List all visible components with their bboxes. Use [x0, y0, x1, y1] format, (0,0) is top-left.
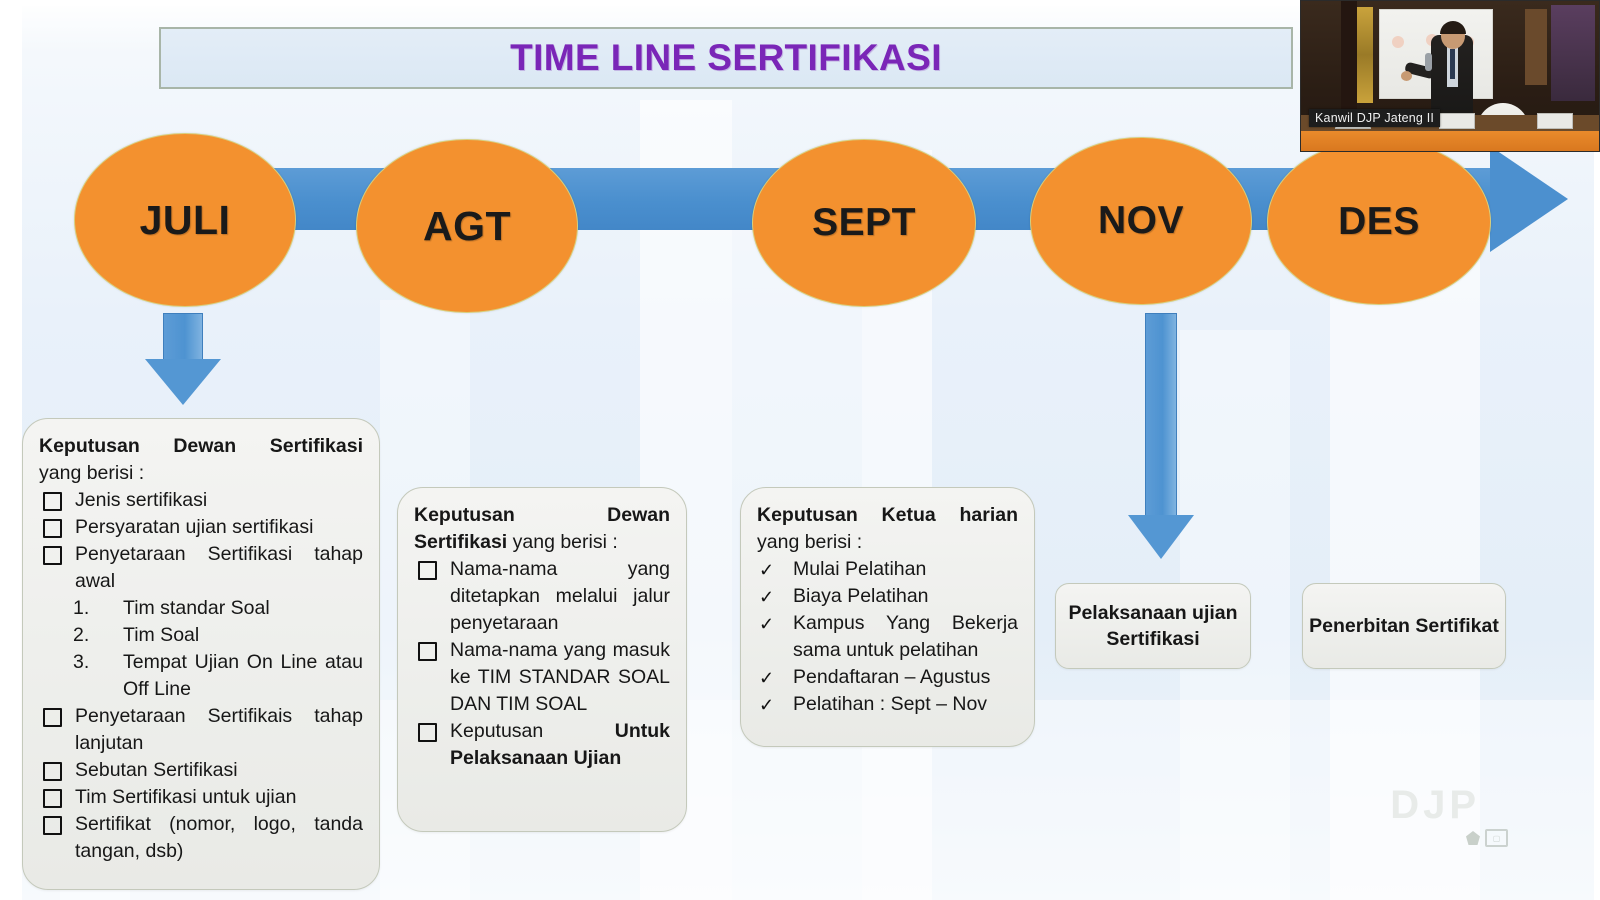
check-icon: ✓	[759, 665, 774, 692]
checkbox-icon	[43, 762, 62, 781]
list-item: ✓Pelatihan : Sept – Nov	[757, 691, 1018, 718]
timeline-node-label: SEPT	[812, 201, 916, 245]
box-juli-list-top: Jenis sertifikasi Persyaratan ujian sert…	[39, 487, 363, 595]
timeline-node-label: AGT	[423, 203, 511, 250]
list-item-label: Tim standar Soal	[123, 597, 270, 619]
list-item-label: Sertifikat (nomor, logo, tanda tangan, d…	[75, 813, 363, 862]
checkbox-icon	[418, 723, 437, 742]
list-item: ✓Biaya Pelatihan	[757, 583, 1018, 610]
timeline-node-label: NOV	[1098, 199, 1184, 243]
list-item: Nama-nama yang masuk ke TIM STANDAR SOAL…	[414, 637, 670, 718]
list-item-number: 1.	[73, 595, 89, 622]
list-item-label: Kampus Yang Bekerja sama untuk pelatihan	[793, 612, 1018, 661]
page-title: TIME LINE SERTIFIKASI	[510, 37, 942, 79]
video-wall-panel-2	[1525, 9, 1547, 85]
list-item-label: Penyetaraan Sertifikasi tahap awal	[75, 543, 363, 592]
box-sept-subheading: yang berisi :	[757, 529, 1018, 556]
video-laptop-3	[1537, 113, 1573, 129]
list-item: ✓Pendaftaran – Agustus	[757, 664, 1018, 691]
content-box-agt: Keputusan Dewan Sertifikasi yang berisi …	[397, 487, 687, 832]
pentagon-logo-icon	[1466, 831, 1480, 845]
list-item-label: Penyetaraan Sertifikais tahap lanjutan	[75, 705, 363, 754]
content-box-juli: Keputusan Dewan Sertifikasi yang berisi …	[22, 418, 380, 890]
down-arrow-juli-icon	[140, 313, 226, 405]
list-item-label: Jenis sertifikasi	[75, 489, 207, 511]
timeline-node-label: JULI	[140, 197, 231, 244]
box-agt-list: Nama-nama yang ditetapkan melalui jalur …	[414, 556, 670, 772]
webcam-video-overlay[interactable]: Kanwil DJP Jateng II	[1300, 0, 1600, 152]
video-desk	[1301, 131, 1600, 151]
list-item: ✓Kampus Yang Bekerja sama untuk pelatiha…	[757, 610, 1018, 664]
timeline-node-nov[interactable]: NOV	[1030, 137, 1252, 305]
list-item-label: Sebutan Sertifikasi	[75, 759, 238, 781]
timeline-node-juli[interactable]: JULI	[74, 133, 296, 307]
checkbox-icon	[418, 561, 437, 580]
list-item-number: 2.	[73, 622, 89, 649]
slide-margin-left	[0, 0, 22, 900]
checkbox-icon	[43, 492, 62, 511]
check-icon: ✓	[759, 611, 774, 638]
check-icon: ✓	[759, 557, 774, 584]
box-juli-sublist: 1.Tim standar Soal 2.Tim Soal 3.Tempat U…	[39, 595, 363, 703]
list-item: Penyetaraan Sertifikasi tahap awal	[39, 541, 363, 595]
list-item-label: Nama-nama yang ditetapkan melalui jalur …	[450, 558, 670, 634]
checkbox-icon	[43, 816, 62, 835]
down-arrow-nov-icon	[1118, 313, 1204, 561]
checkbox-icon	[43, 708, 62, 727]
video-laptop-2	[1439, 113, 1475, 129]
list-item-label: Nama-nama yang masuk ke TIM STANDAR SOAL…	[450, 639, 670, 715]
box-juli-subheading: yang berisi :	[39, 460, 363, 487]
content-box-des: Penerbitan Sertifikat	[1302, 583, 1506, 669]
video-ornament-carving	[1357, 7, 1373, 103]
timeline-node-des[interactable]: DES	[1267, 139, 1491, 305]
list-item: ✓Mulai Pelatihan	[757, 556, 1018, 583]
list-item: Sertifikat (nomor, logo, tanda tangan, d…	[39, 811, 363, 865]
list-item: Keputusan Untuk Pelaksanaan Ujian	[414, 718, 670, 772]
checkbox-icon	[43, 519, 62, 538]
list-item: Sebutan Sertifikasi	[39, 757, 363, 784]
timeline-node-agt[interactable]: AGT	[356, 139, 578, 313]
list-item-label: Pendaftaran – Agustus	[793, 666, 990, 688]
timeline-node-sept[interactable]: SEPT	[752, 139, 976, 307]
list-item-label: Biaya Pelatihan	[793, 585, 929, 607]
list-item: 3.Tempat Ujian On Line atau Off Line	[73, 649, 363, 703]
box-juli-list-bottom: Penyetaraan Sertifikais tahap lanjutan S…	[39, 703, 363, 865]
list-item: Jenis sertifikasi	[39, 487, 363, 514]
list-item-label: Tim Soal	[123, 624, 199, 646]
content-box-nov: Pelaksanaan ujian Sertifikasi	[1055, 583, 1251, 669]
list-item-label: Pelatihan : Sept – Nov	[793, 693, 987, 715]
video-participant-name: Kanwil DJP Jateng II	[1309, 109, 1440, 127]
list-item-label: Tim Sertifikasi untuk ujian	[75, 786, 296, 808]
box-des-text: Penerbitan Sertifikat	[1309, 613, 1499, 639]
background-watermark-text: DJP	[1390, 783, 1480, 828]
list-item-number: 3.	[73, 649, 89, 676]
box-agt-subheading-line: Sertifikasi yang berisi :	[414, 529, 670, 556]
checkbox-icon	[418, 642, 437, 661]
list-item: Penyetaraan Sertifikais tahap lanjutan	[39, 703, 363, 757]
list-item: Tim Sertifikasi untuk ujian	[39, 784, 363, 811]
video-pillar	[1341, 1, 1357, 121]
video-speaker-hand	[1401, 71, 1412, 81]
slide-title-bar: TIME LINE SERTIFIKASI	[159, 27, 1293, 89]
video-speaker-tie	[1450, 49, 1455, 79]
box-agt-heading: Keputusan Dewan	[414, 502, 670, 529]
content-box-sept: Keputusan Ketua harian yang berisi : ✓Mu…	[740, 487, 1035, 747]
box-sept-heading: Keputusan Ketua harian	[757, 502, 1018, 529]
timeline-arrow-head-icon	[1490, 146, 1568, 252]
corner-logo: ▢	[1466, 829, 1508, 847]
list-item-label: Persyaratan ujian sertifikasi	[75, 516, 313, 538]
box-sept-list: ✓Mulai Pelatihan ✓Biaya Pelatihan ✓Kampu…	[757, 556, 1018, 718]
checkbox-icon	[43, 546, 62, 565]
box-juli-heading: Keputusan Dewan Sertifikasi	[39, 433, 363, 460]
list-item-label: Keputusan	[450, 720, 615, 742]
list-item-label: Mulai Pelatihan	[793, 558, 926, 580]
box-agt-heading-2: Sertifikasi	[414, 531, 507, 553]
microphone-icon	[1425, 53, 1432, 71]
checkbox-icon	[43, 789, 62, 808]
slide-canvas: TIME LINE SERTIFIKASI JULI AGT SEPT NOV …	[0, 0, 1600, 900]
list-item-label: Tempat Ujian On Line atau Off Line	[123, 651, 363, 700]
list-item: 1.Tim standar Soal	[73, 595, 363, 622]
screen-share-icon: ▢	[1485, 829, 1508, 847]
box-nov-text: Pelaksanaan ujian Sertifikasi	[1056, 600, 1250, 652]
check-icon: ✓	[759, 584, 774, 611]
list-item: Nama-nama yang ditetapkan melalui jalur …	[414, 556, 670, 637]
list-item: Persyaratan ujian sertifikasi	[39, 514, 363, 541]
list-item: 2.Tim Soal	[73, 622, 363, 649]
box-agt-subheading: yang berisi :	[507, 531, 618, 553]
check-icon: ✓	[759, 692, 774, 719]
timeline-node-label: DES	[1338, 200, 1420, 244]
video-wall-panel	[1551, 5, 1595, 101]
